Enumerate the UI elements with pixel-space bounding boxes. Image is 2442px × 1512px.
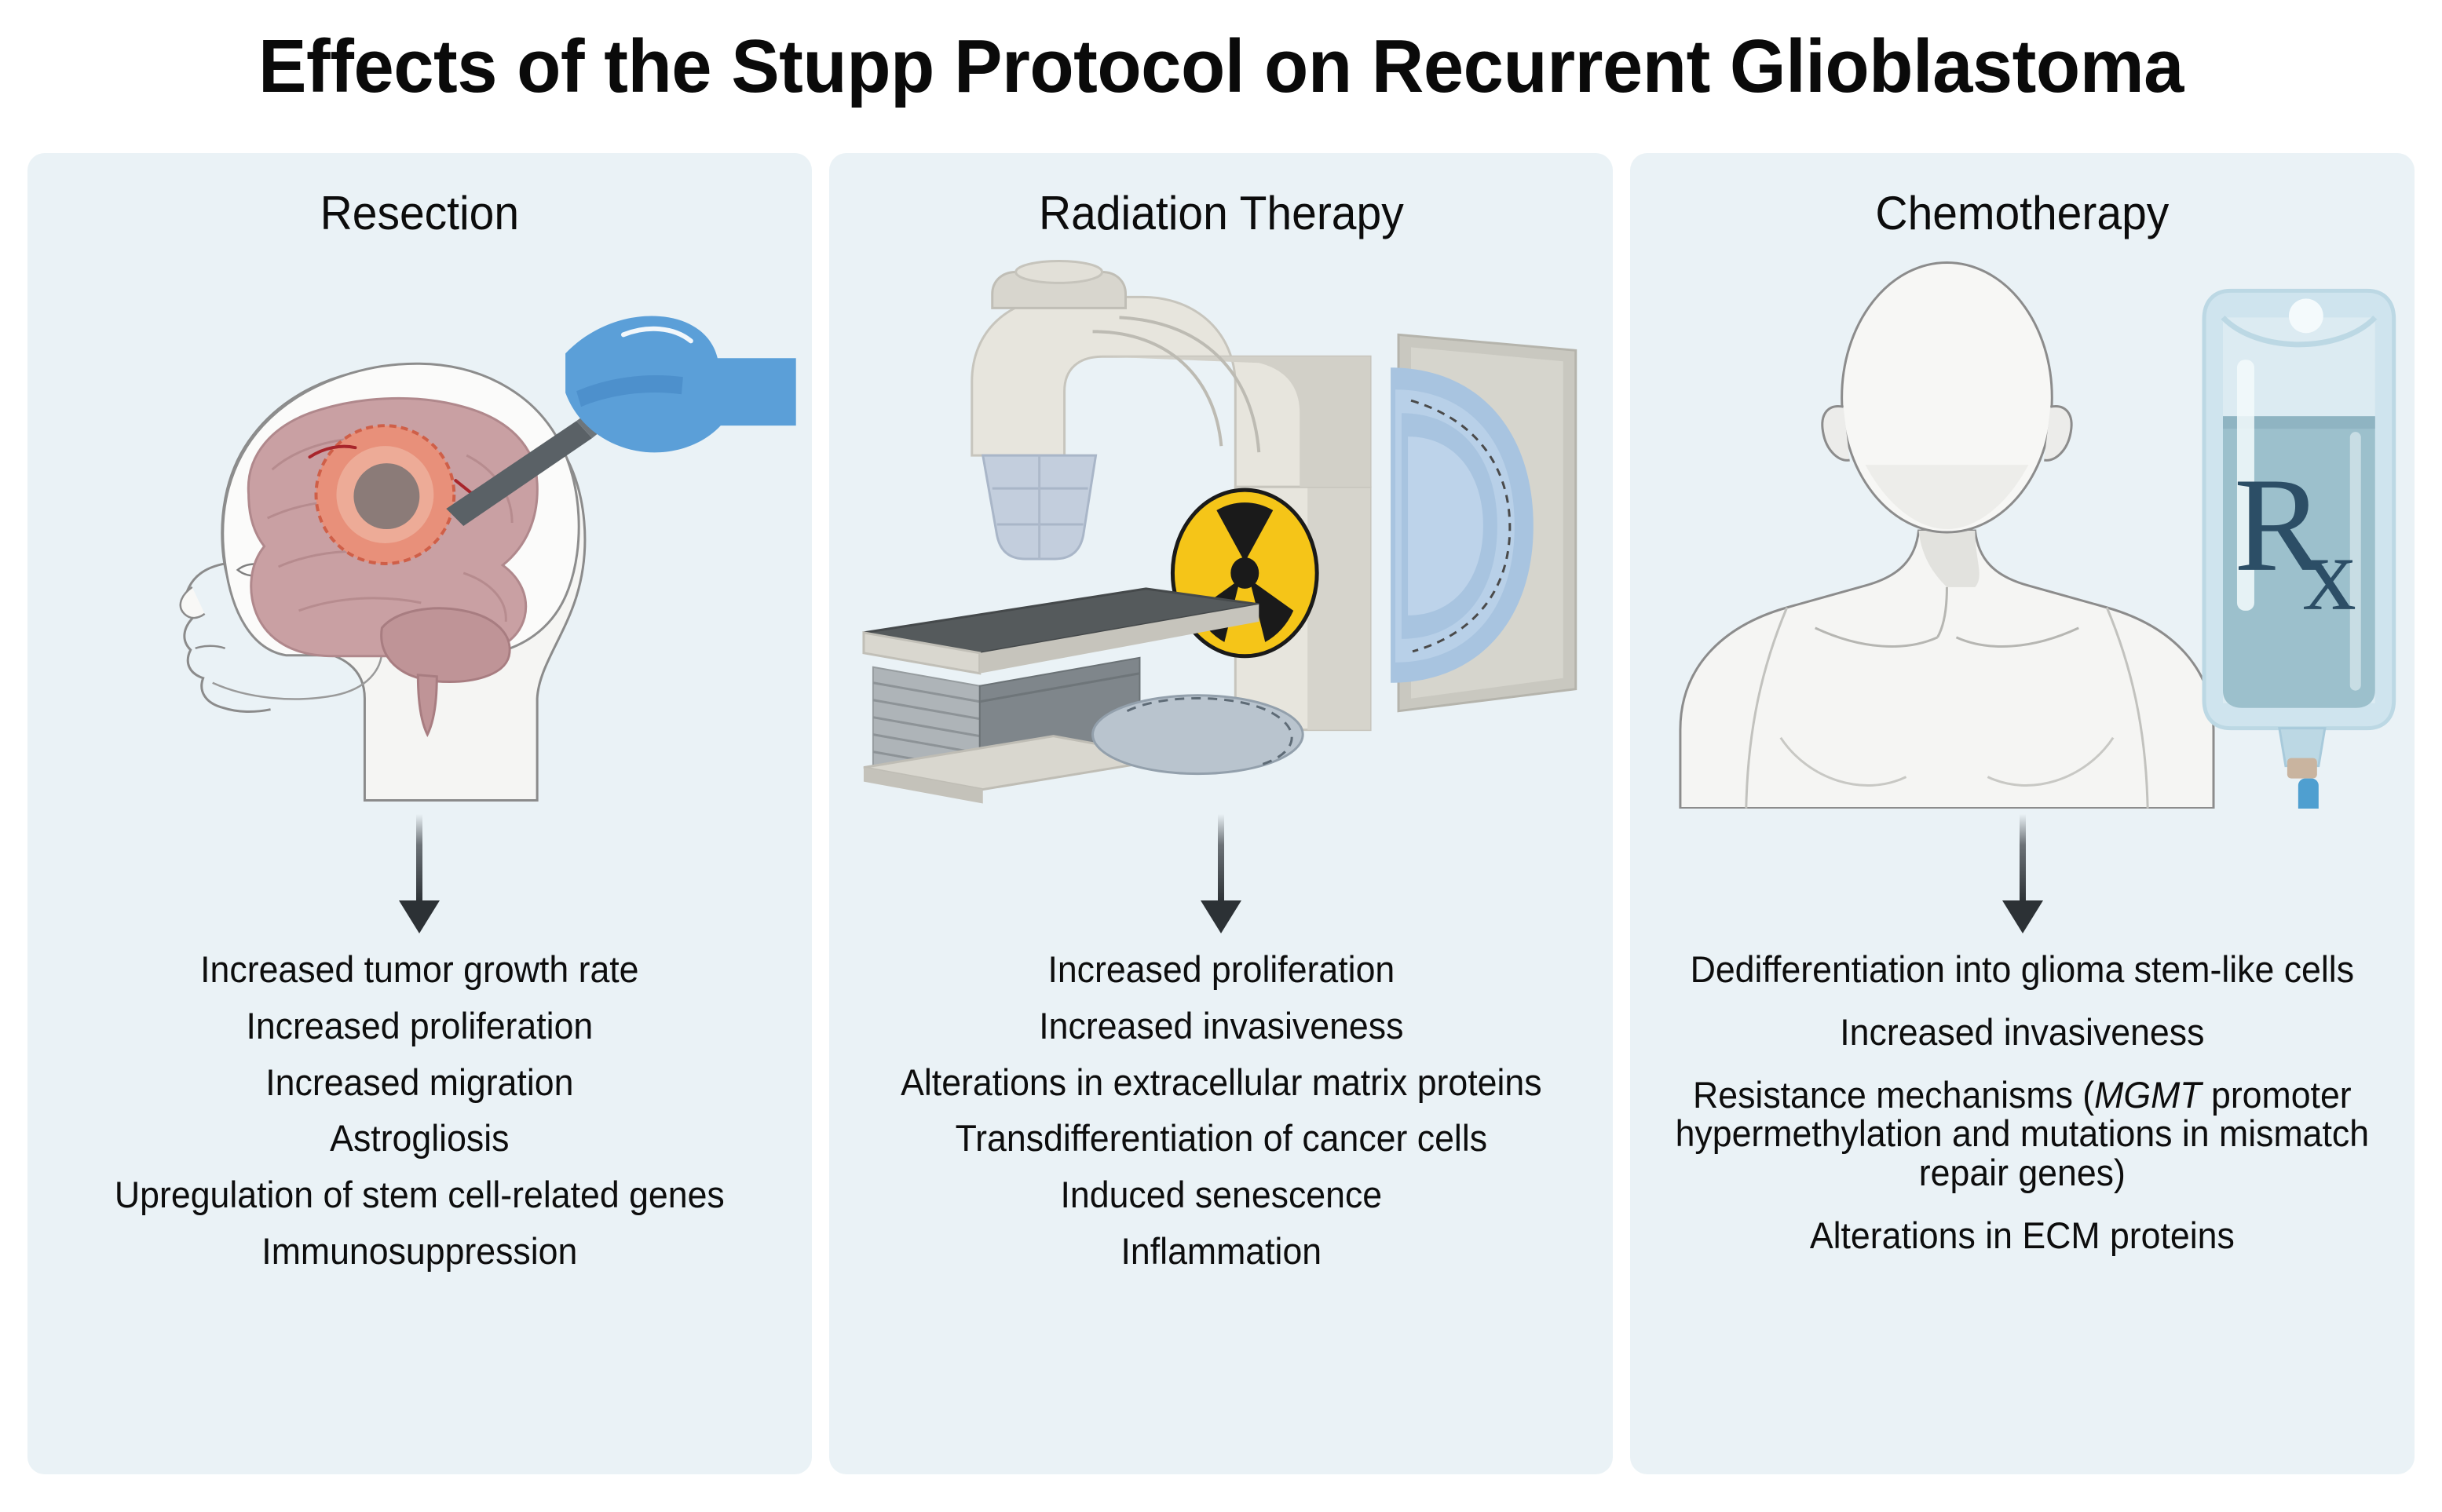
effect-item: Increased invasiveness	[1671, 1013, 2374, 1052]
effects-list-chemotherapy: Dedifferentiation into glioma stem-like …	[1630, 950, 2415, 1279]
panel-chemotherapy: Chemotherapy	[1630, 153, 2415, 1474]
effect-item: Induced senescence	[869, 1175, 1573, 1214]
figure-title: Effects of the Stupp Protocol on Recurre…	[49, 0, 2393, 133]
effect-item: Increased tumor growth rate	[68, 950, 772, 989]
down-arrow-chemotherapy	[1976, 813, 2070, 938]
effect-item: Dedifferentiation into glioma stem-like …	[1671, 950, 2374, 989]
effect-item: Inflammation	[869, 1232, 1573, 1271]
panel-radiation-therapy: Radiation Therapy	[829, 153, 1614, 1474]
effect-item: Astrogliosis	[68, 1119, 772, 1158]
panel-title-chemotherapy: Chemotherapy	[1650, 186, 2395, 240]
effect-item: Increased migration	[68, 1063, 772, 1102]
effect-item: Alterations in extracellular matrix prot…	[869, 1063, 1573, 1102]
effects-list-radiation-therapy: Increased proliferation Increased invasi…	[829, 950, 1614, 1288]
panel-row: Resection	[27, 153, 2415, 1474]
svg-text:x: x	[2303, 515, 2356, 633]
effect-item: Alterations in ECM proteins	[1671, 1216, 2374, 1255]
panel-title-radiation-therapy: Radiation Therapy	[849, 186, 1594, 240]
effects-list-resection: Increased tumor growth rate Increased pr…	[27, 950, 812, 1288]
effect-item: Immunosuppression	[68, 1232, 772, 1271]
effect-item: Upregulation of stem cell-related genes	[68, 1175, 772, 1214]
panel-title-resection: Resection	[47, 186, 792, 240]
effect-item: Transdifferentiation of cancer cells	[869, 1119, 1573, 1158]
brain-resection-illustration	[27, 259, 812, 809]
effect-item-resistance: Resistance mechanisms (MGMT promoter hyp…	[1671, 1076, 2374, 1192]
gene-name-mgmt: MGMT	[2095, 1074, 2202, 1116]
figure-root: Effects of the Stupp Protocol on Recurre…	[0, 0, 2442, 1512]
panel-resection: Resection	[27, 153, 812, 1474]
linear-accelerator-illustration	[829, 259, 1614, 809]
effect-item: Increased proliferation	[869, 950, 1573, 989]
effect-item: Increased proliferation	[68, 1006, 772, 1046]
effect-text-pre: Resistance mechanisms (	[1693, 1074, 2094, 1116]
effect-item: Increased invasiveness	[869, 1006, 1573, 1046]
down-arrow-resection	[372, 813, 466, 938]
iv-chemotherapy-illustration: R x	[1630, 259, 2415, 809]
down-arrow-radiation-therapy	[1174, 813, 1268, 938]
